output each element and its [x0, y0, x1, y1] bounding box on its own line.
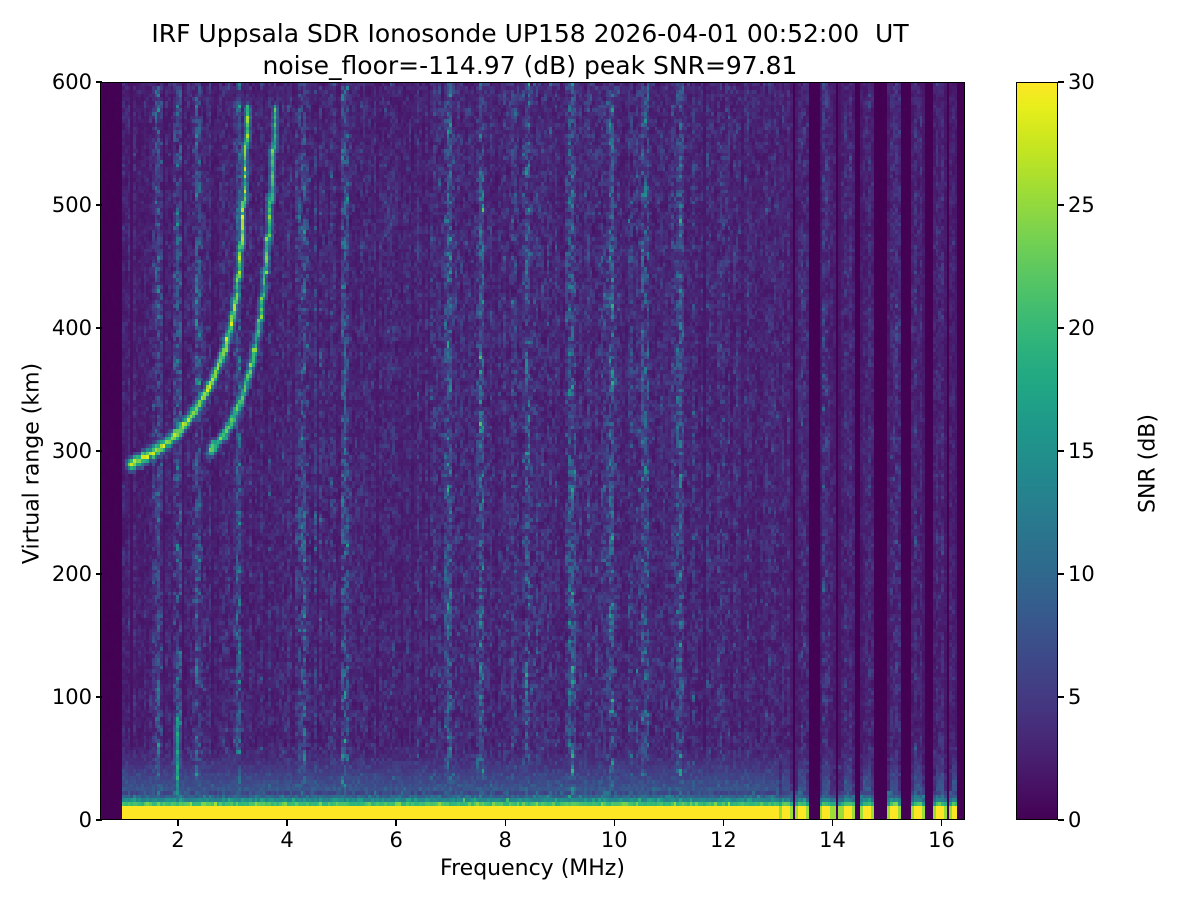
x-tick-label: 4 [247, 828, 327, 852]
x-tick-mark [177, 820, 178, 826]
colorbar [1016, 82, 1058, 820]
ionogram-plot-area [100, 82, 965, 820]
colorbar-tick-mark [1058, 204, 1064, 205]
colorbar-tick-label: 15 [1068, 439, 1095, 463]
colorbar-tick-mark [1058, 696, 1064, 697]
ionogram-figure: IRF Uppsala SDR Ionosonde UP158 2026-04-… [0, 0, 1200, 900]
x-tick-mark [395, 820, 396, 826]
x-tick-label: 8 [465, 828, 545, 852]
colorbar-tick-label: 0 [1068, 808, 1081, 832]
x-tick-label: 14 [792, 828, 872, 852]
colorbar-tick-label: 25 [1068, 193, 1095, 217]
y-tick-mark [96, 450, 102, 451]
x-tick-mark [286, 820, 287, 826]
y-tick-mark [96, 81, 102, 82]
colorbar-label: SNR (dB) [1136, 254, 1161, 674]
y-tick-mark [96, 819, 102, 820]
y-axis-label: Virtual range (km) [20, 184, 45, 744]
x-tick-label: 12 [683, 828, 763, 852]
x-tick-label: 6 [356, 828, 436, 852]
x-axis-label: Frequency (MHz) [100, 856, 965, 881]
colorbar-tick-label: 30 [1068, 70, 1095, 94]
y-tick-mark [96, 573, 102, 574]
colorbar-tick-label: 10 [1068, 562, 1095, 586]
colorbar-tick-label: 5 [1068, 685, 1081, 709]
y-tick-mark [96, 696, 102, 697]
x-tick-mark [505, 820, 506, 826]
y-tick-label: 400 [0, 316, 92, 340]
colorbar-tick-mark [1058, 81, 1064, 82]
colorbar-tick-mark [1058, 450, 1064, 451]
colorbar-tick-mark [1058, 819, 1064, 820]
colorbar-tick-label: 20 [1068, 316, 1095, 340]
y-tick-label: 100 [0, 685, 92, 709]
y-tick-mark [96, 327, 102, 328]
x-tick-label: 10 [574, 828, 654, 852]
x-tick-label: 2 [138, 828, 218, 852]
y-tick-mark [96, 204, 102, 205]
y-tick-label: 600 [0, 70, 92, 94]
y-tick-label: 0 [0, 808, 92, 832]
y-tick-label: 300 [0, 439, 92, 463]
title-line-1: IRF Uppsala SDR Ionosonde UP158 2026-04-… [0, 18, 1060, 50]
figure-title: IRF Uppsala SDR Ionosonde UP158 2026-04-… [0, 18, 1060, 82]
x-tick-label: 16 [902, 828, 982, 852]
x-tick-mark [723, 820, 724, 826]
colorbar-gradient [1017, 83, 1058, 820]
colorbar-tick-mark [1058, 327, 1064, 328]
x-tick-mark [941, 820, 942, 826]
title-line-2: noise_floor=-114.97 (dB) peak SNR=97.81 [0, 50, 1060, 82]
y-tick-label: 500 [0, 193, 92, 217]
x-tick-mark [614, 820, 615, 826]
y-tick-label: 200 [0, 562, 92, 586]
colorbar-tick-mark [1058, 573, 1064, 574]
x-tick-mark [832, 820, 833, 826]
ionogram-heatmap [101, 83, 965, 820]
